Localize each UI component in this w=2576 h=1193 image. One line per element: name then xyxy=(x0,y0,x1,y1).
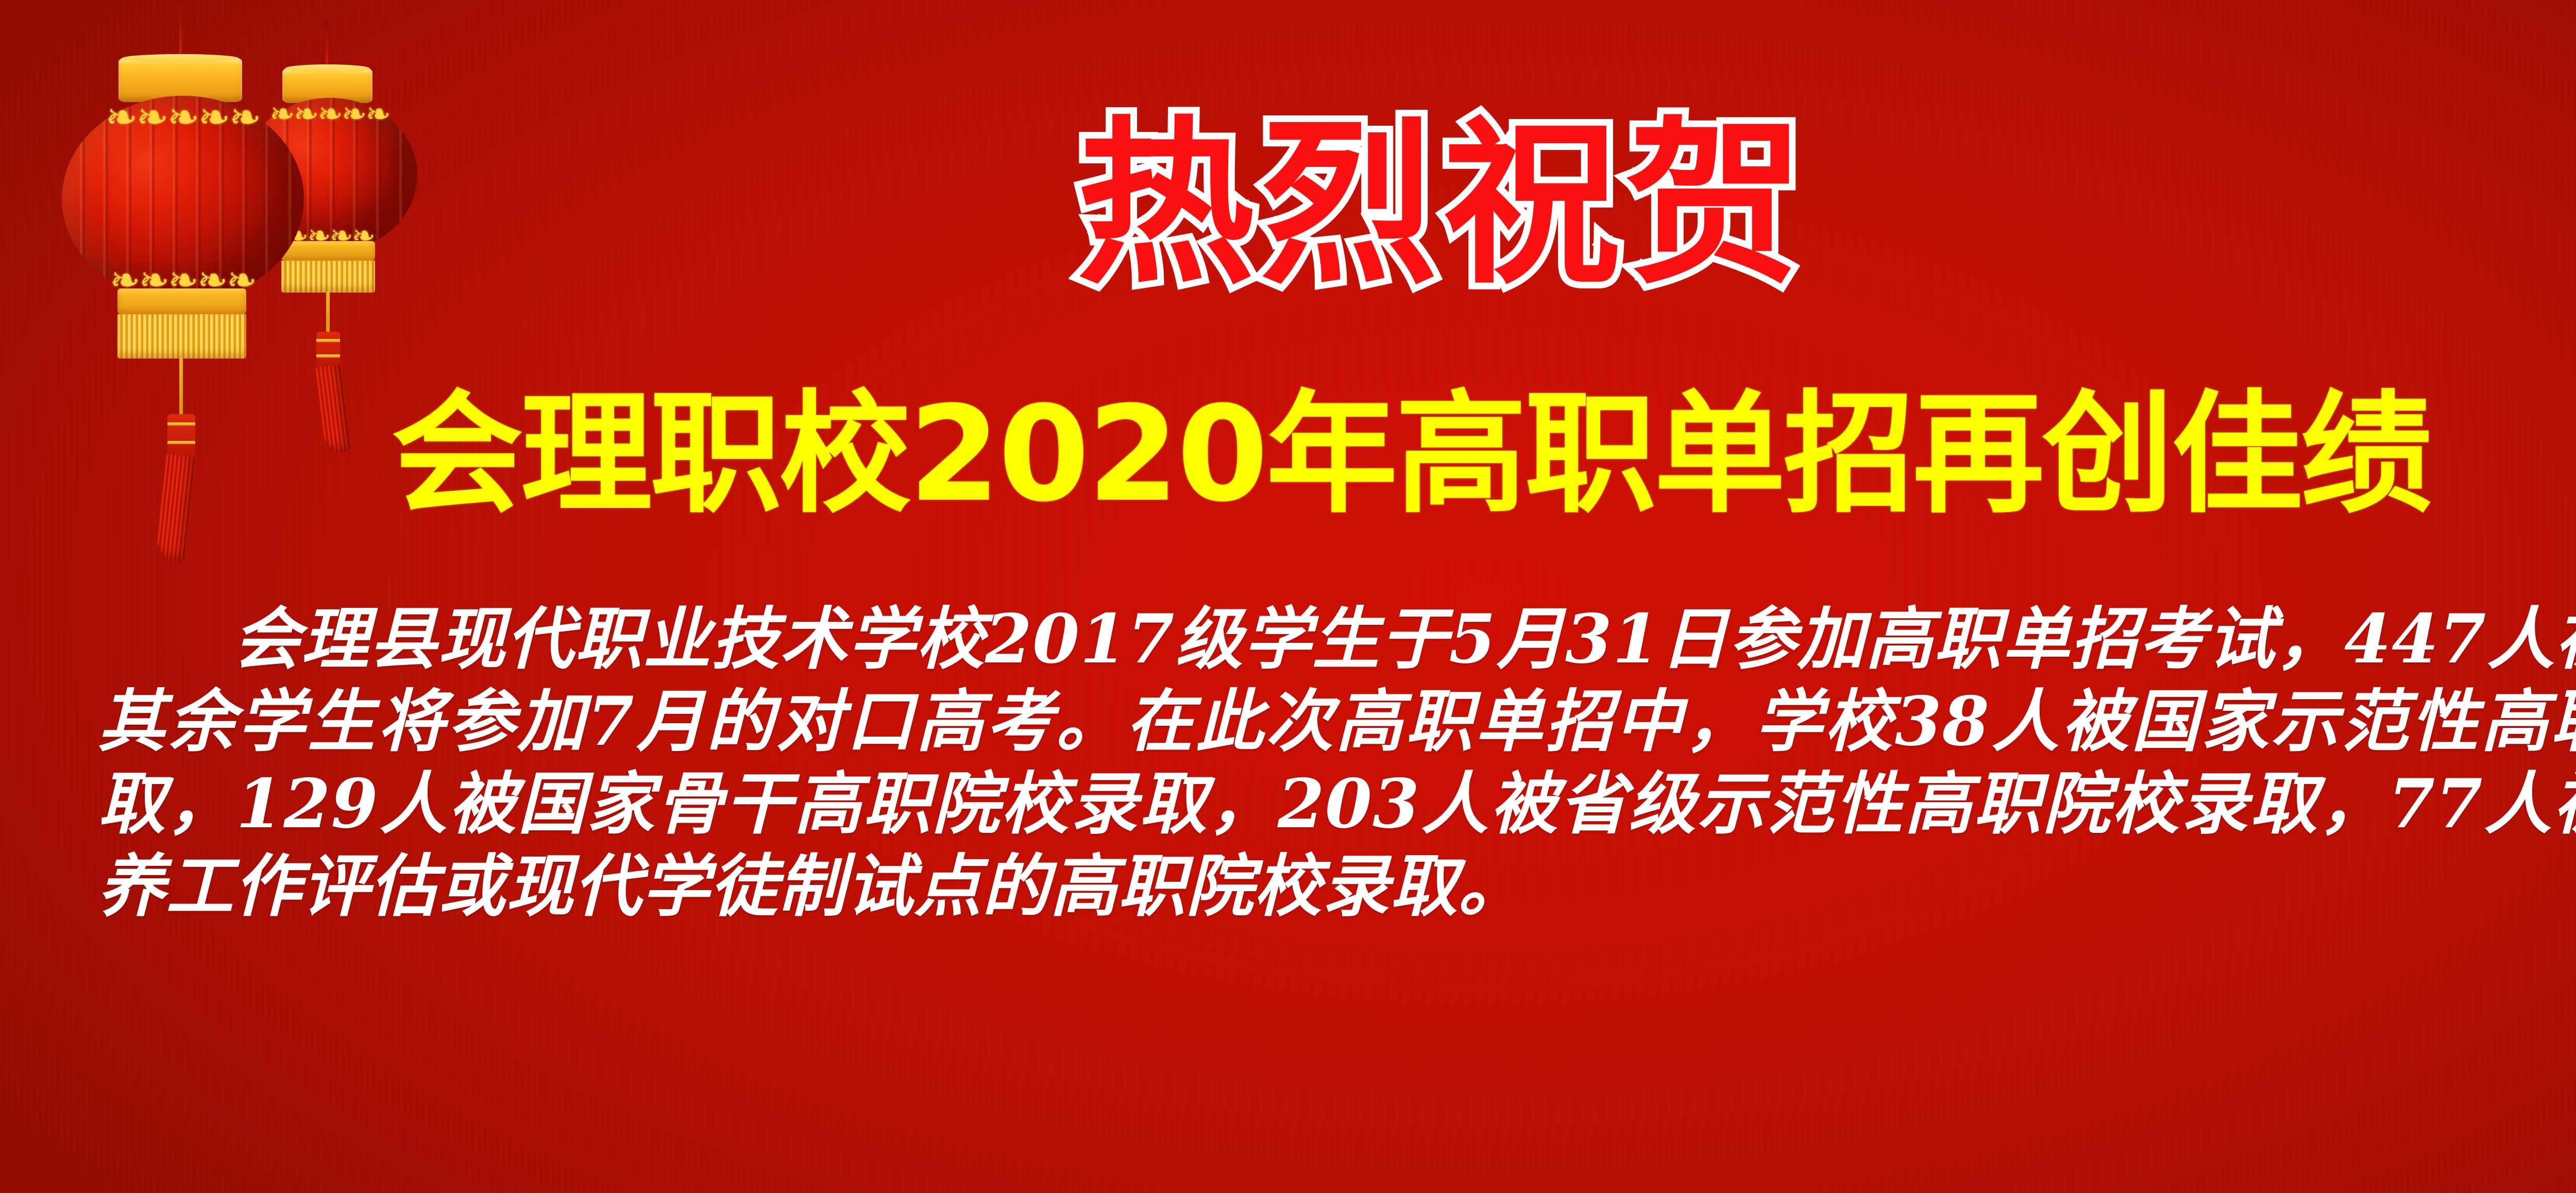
cloud-motif-icon: ❧ xyxy=(294,99,318,129)
cloud-motif-icon: ❧ xyxy=(229,98,260,137)
announcement-body: 会理县现代职业技术学校2017级学生于5月31日参加高职单招考试，447人被录取… xyxy=(98,598,2576,927)
page-title: 会理职校2020年高职单招再创佳绩 xyxy=(392,389,2430,520)
lantern-tassel-cord-large xyxy=(179,357,183,418)
lantern-cord-small xyxy=(326,21,328,70)
poster-canvas: ❧ ❧ ❧ ❧ ❧ ❧ ❧ ❧ ❧ xyxy=(0,0,2576,1193)
lantern-skirt-large xyxy=(117,288,246,315)
lantern-cloud-band-top-large: ❧ ❧ ❧ ❧ ❧ xyxy=(72,98,294,137)
lantern-tassel-body-large xyxy=(156,454,196,562)
lantern-skirt-small xyxy=(281,241,375,262)
knot-band xyxy=(167,441,195,444)
knot-band xyxy=(316,354,340,357)
lantern-fringe-small xyxy=(281,261,375,293)
cloud-motif-icon: ❧ xyxy=(342,99,366,129)
cloud-motif-icon: ❧ xyxy=(318,99,342,129)
knot-band xyxy=(167,422,195,425)
cloud-motif-icon: ❧ xyxy=(137,98,167,137)
lantern-fringe-large xyxy=(117,314,246,359)
lantern-cord-large xyxy=(179,0,182,61)
lantern-tassel-cord-small xyxy=(326,292,330,336)
congratulations-title: 热烈祝贺 xyxy=(1077,116,1808,294)
lantern-tassel-knot-large xyxy=(167,414,195,457)
cloud-motif-icon: ❧ xyxy=(106,98,137,137)
cloud-motif-icon: ❧ xyxy=(198,98,229,137)
lantern-tassel-body-small xyxy=(315,364,351,454)
cloud-motif-icon: ❧ xyxy=(167,98,198,137)
knot-band xyxy=(316,339,340,342)
lantern-tassel-knot-small xyxy=(316,332,340,368)
cloud-motif-icon: ❧ xyxy=(366,99,390,129)
